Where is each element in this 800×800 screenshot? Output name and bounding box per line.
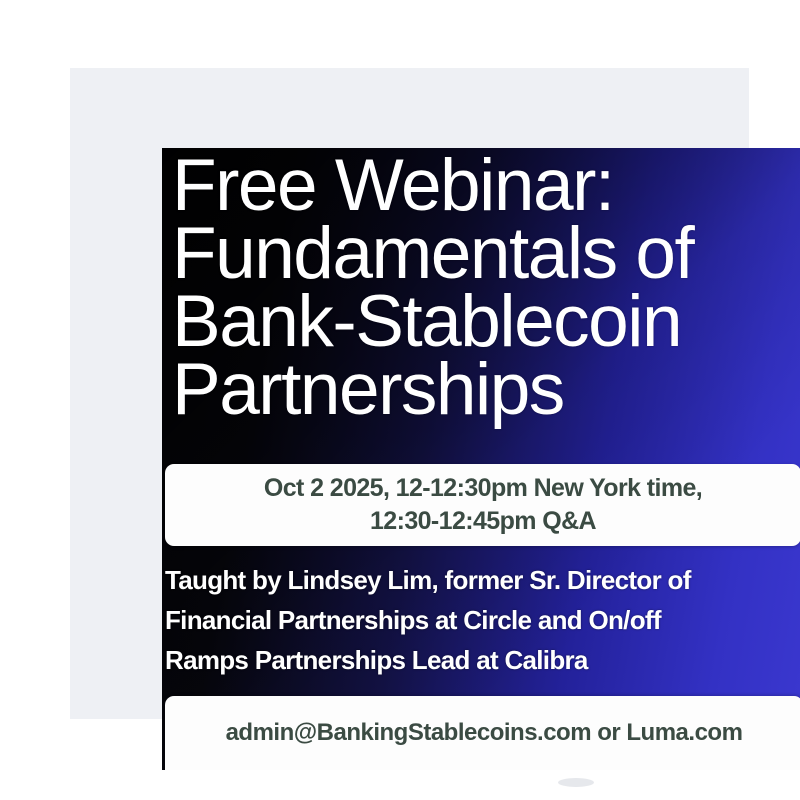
presenter-line-3: Ramps Partnerships Lead at Calibra xyxy=(165,640,800,680)
frame-artifact xyxy=(558,778,594,787)
poster-frame: Free Webinar: Fundamentals of Bank-Stabl… xyxy=(70,68,749,719)
headline-line-1: Free Webinar: xyxy=(172,152,800,220)
headline-line-3: Bank-Stablecoin xyxy=(172,288,800,356)
presenter-line-1: Taught by Lindsey Lim, former Sr. Direct… xyxy=(165,560,800,600)
contact-email-text: admin@BankingStablecoins.com or Luma.com xyxy=(226,719,743,747)
webinar-poster-card: Free Webinar: Fundamentals of Bank-Stabl… xyxy=(162,148,800,770)
event-date-line-2: 12:30-12:45pm Q&A xyxy=(370,505,596,538)
presenter-bio: Taught by Lindsey Lim, former Sr. Direct… xyxy=(165,560,800,680)
event-date-line-1: Oct 2 2025, 12-12:30pm New York time, xyxy=(264,472,702,505)
headline-line-2: Fundamentals of xyxy=(172,220,800,288)
headline-line-4: Partnerships xyxy=(172,356,800,424)
presenter-line-2: Financial Partnerships at Circle and On/… xyxy=(165,600,800,640)
poster-root: Free Webinar: Fundamentals of Bank-Stabl… xyxy=(0,0,800,800)
poster-headline: Free Webinar: Fundamentals of Bank-Stabl… xyxy=(172,152,800,424)
event-datetime-pill: Oct 2 2025, 12-12:30pm New York time, 12… xyxy=(165,464,800,546)
contact-info-box: admin@BankingStablecoins.com or Luma.com xyxy=(165,696,800,770)
